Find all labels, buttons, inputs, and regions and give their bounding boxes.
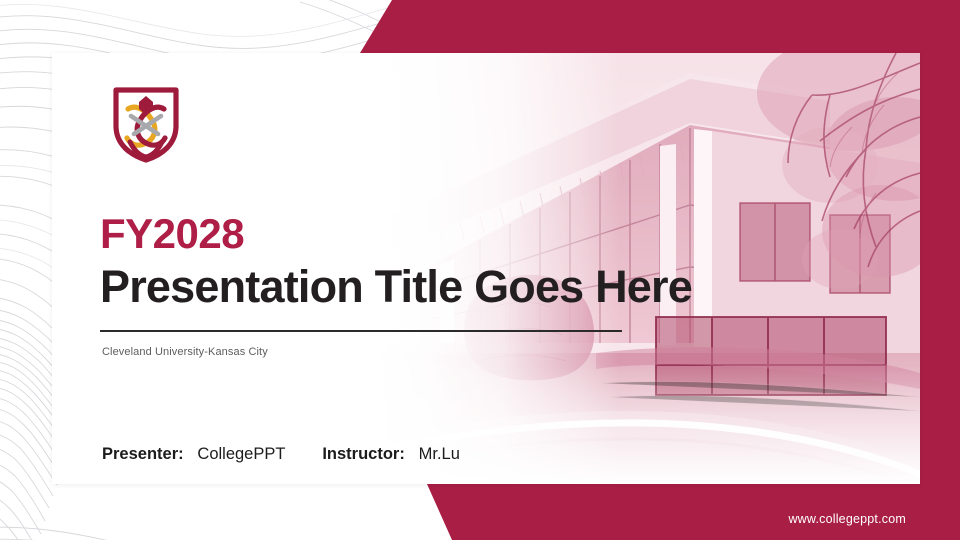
presenter-value: CollegePPT [197, 445, 285, 463]
instructor-label: Instructor: [322, 445, 405, 463]
page-title: Presentation Title Goes Here [100, 263, 692, 312]
title-text-block: FY2028 Presentation Title Goes Here Clev… [100, 213, 692, 358]
university-shield-logo-icon [108, 82, 184, 164]
title-divider [100, 330, 622, 332]
presentation-slide: FY2028 Presentation Title Goes Here Clev… [0, 0, 960, 540]
presenter-label: Presenter: [102, 445, 184, 463]
credits-line: Presenter: CollegePPT Instructor: Mr.Lu [102, 445, 460, 464]
slide-content-card: FY2028 Presentation Title Goes Here Clev… [52, 53, 920, 484]
footer-website-url[interactable]: www.collegeppt.com [788, 512, 906, 526]
university-name-subtitle: Cleveland University-Kansas City [102, 346, 692, 358]
fiscal-year-label: FY2028 [100, 213, 692, 255]
instructor-value: Mr.Lu [419, 445, 460, 463]
